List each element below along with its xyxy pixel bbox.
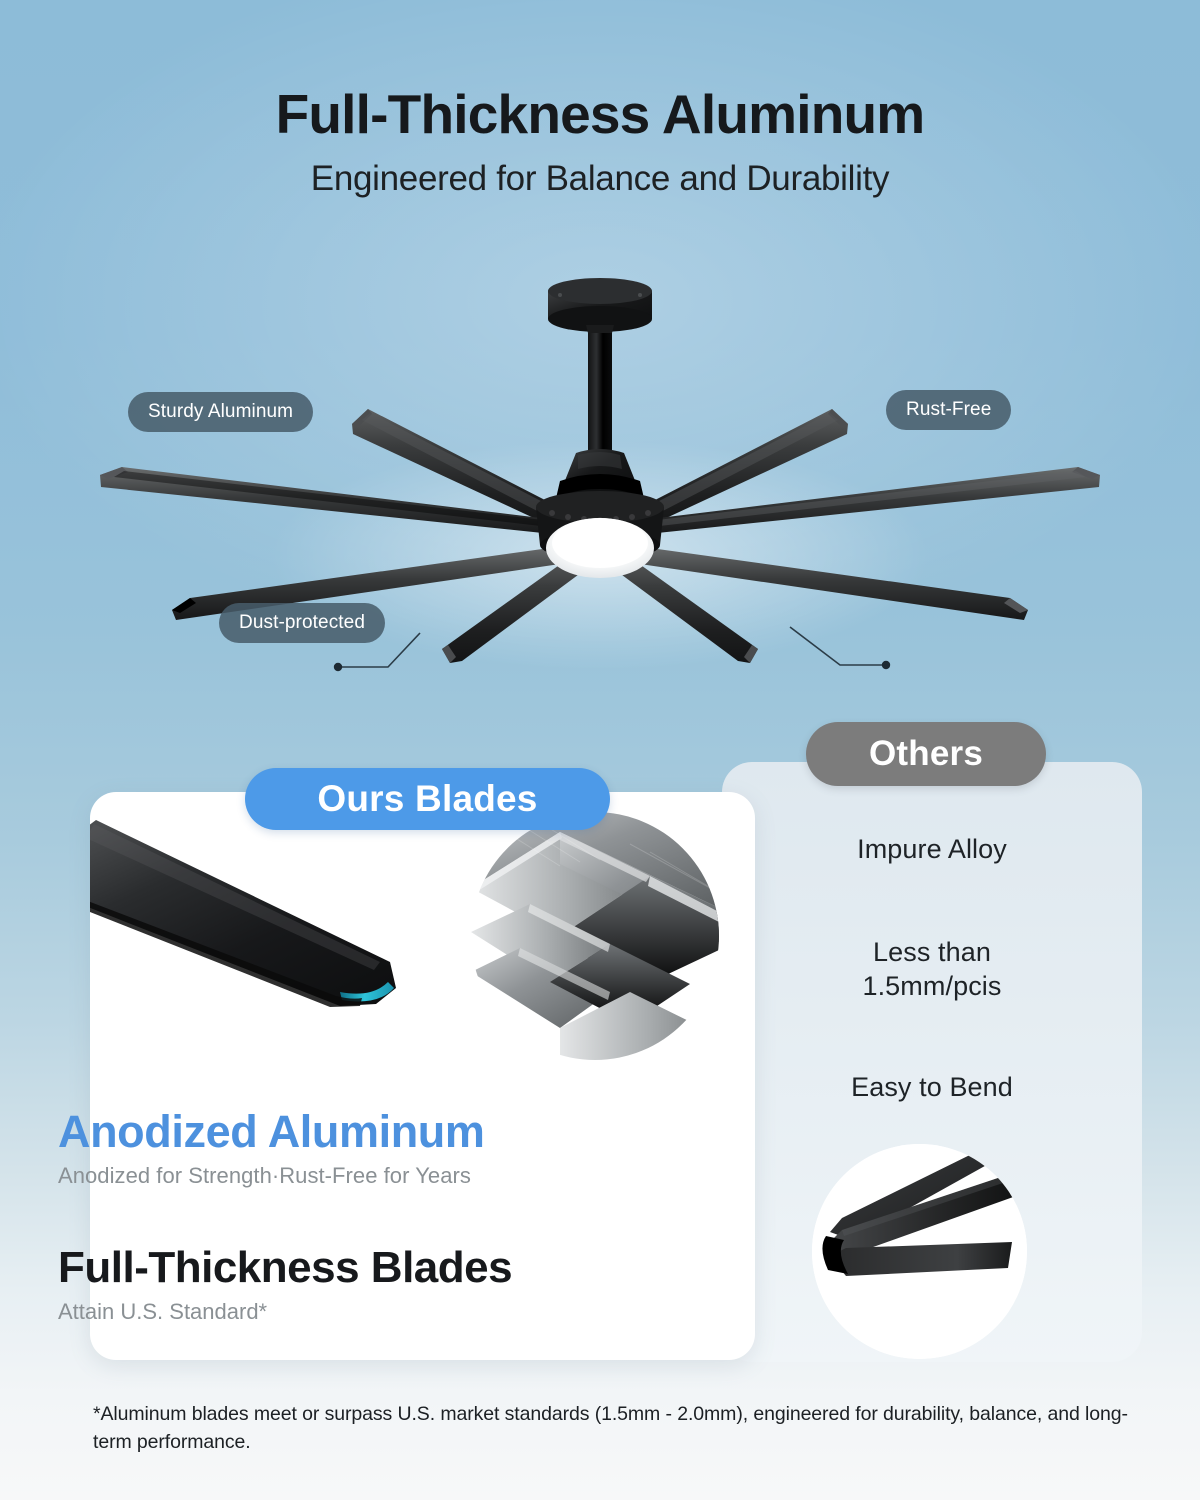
ours-blade-artwork	[90, 792, 755, 1092]
others-item-line2: 1.5mm/pcis	[722, 969, 1142, 1004]
badge-ours-blades: Ours Blades	[245, 768, 610, 830]
ceiling-fan-illustration	[0, 255, 1200, 685]
page-header: Full-Thickness Aluminum Engineered for B…	[0, 86, 1200, 198]
badge-others: Others	[806, 722, 1046, 786]
callout-dust-protected[interactable]: Dust-protected	[219, 603, 385, 643]
others-item-list: Impure Alloy Less than 1.5mm/pcis Easy t…	[722, 820, 1142, 1104]
anodized-heading: Anodized Aluminum	[58, 1108, 512, 1155]
others-item-line1: Impure Alloy	[722, 832, 1142, 867]
others-item-line1: Less than	[722, 935, 1142, 970]
callout-rust-free[interactable]: Rust-Free	[886, 390, 1011, 430]
callout-label: Rust-Free	[906, 399, 991, 421]
badge-label: Ours Blades	[317, 778, 537, 820]
callout-label: Sturdy Aluminum	[148, 401, 293, 423]
list-item: Less than 1.5mm/pcis	[722, 935, 1142, 1004]
aluminum-billet-inset	[471, 812, 719, 1060]
bent-blades-graphic	[812, 1144, 1027, 1359]
ours-text-block: Anodized Aluminum Anodized for Strength·…	[58, 1108, 512, 1325]
list-item: Impure Alloy	[722, 832, 1142, 867]
footnote: *Aluminum blades meet or surpass U.S. ma…	[93, 1400, 1148, 1457]
callout-label: Dust-protected	[239, 612, 365, 634]
badge-label: Others	[869, 734, 983, 774]
page-subtitle: Engineered for Balance and Durability	[0, 160, 1200, 199]
others-item-line1: Easy to Bend	[722, 1070, 1142, 1105]
bent-blades-photo	[812, 1144, 1027, 1359]
callout-sturdy-aluminum[interactable]: Sturdy Aluminum	[128, 392, 313, 432]
full-thickness-heading: Full-Thickness Blades	[58, 1245, 512, 1291]
list-item: Easy to Bend	[722, 1070, 1142, 1105]
callout-leader-lines	[0, 255, 1200, 685]
full-thickness-subtext: Attain U.S. Standard*	[58, 1299, 512, 1325]
anodized-subtext: Anodized for Strength·Rust-Free for Year…	[58, 1163, 512, 1189]
page-title: Full-Thickness Aluminum	[0, 86, 1200, 144]
